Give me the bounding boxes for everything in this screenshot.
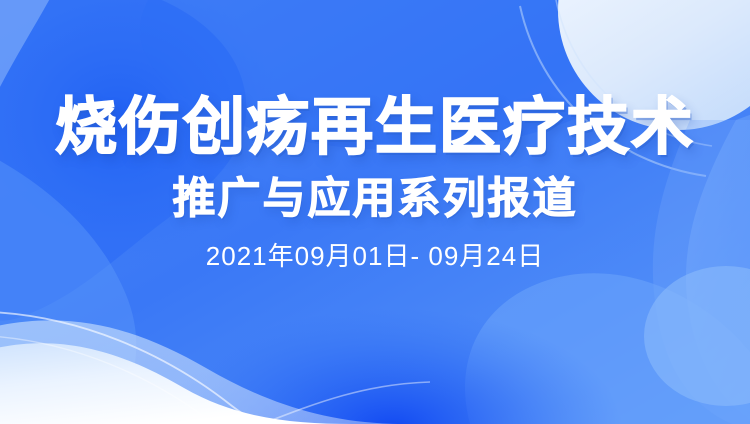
background-artwork <box>0 0 750 424</box>
banner-poster: 烧伤创疡再生医疗技术 推广与应用系列报道 2021年09月01日- 09月24日 <box>0 0 750 424</box>
